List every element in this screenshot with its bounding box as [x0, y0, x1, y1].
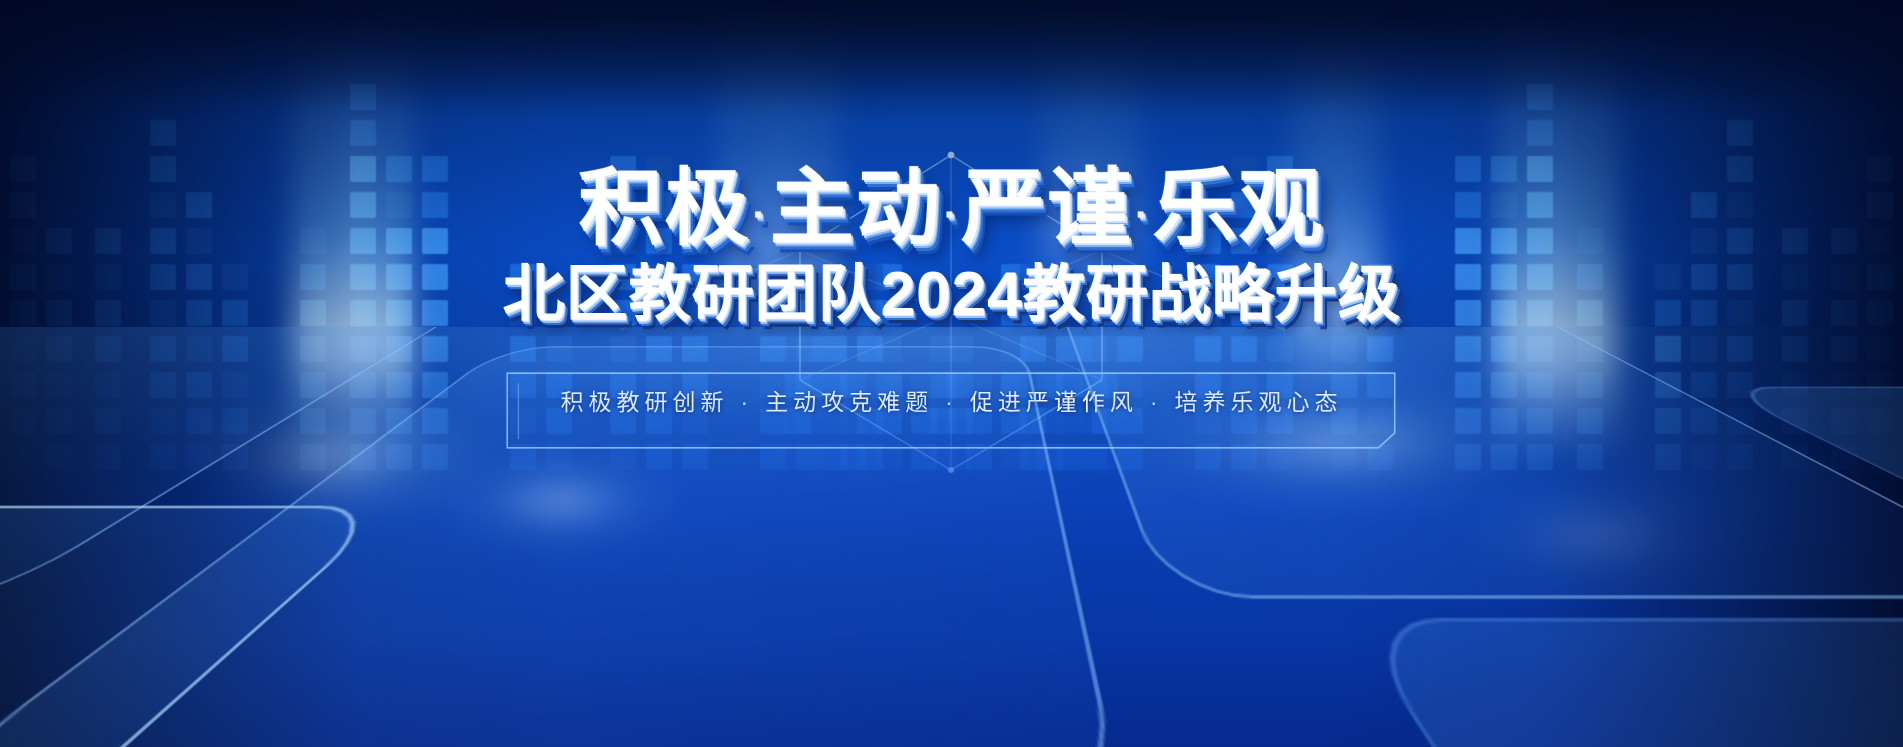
skyline-block [422, 300, 448, 326]
skyline-block [610, 264, 636, 290]
page-title: 积极·主动·严谨·乐观 [578, 166, 1324, 250]
skyline-block [1527, 264, 1553, 290]
title-separator-dot: · [752, 193, 767, 237]
skyline-block [1267, 300, 1293, 326]
skyline-block [186, 264, 212, 290]
skyline-block [1867, 300, 1893, 326]
skyline-block [1527, 156, 1553, 182]
skyline-block [1231, 228, 1257, 254]
skyline-block [1691, 264, 1717, 290]
skyline-block [386, 228, 412, 254]
skyline-block [386, 300, 412, 326]
title-part: 严谨 [961, 161, 1133, 255]
skyline-block [610, 192, 636, 218]
skyline-block [1655, 264, 1681, 290]
skyline-block [1195, 228, 1221, 254]
skyline-block [1491, 192, 1517, 218]
title-part: 主动 [770, 161, 942, 255]
skyline-block [1727, 120, 1753, 146]
skyline-block [10, 300, 36, 326]
light-beam-center [718, 0, 838, 340]
skyline-block [610, 156, 636, 182]
skyline-block [46, 264, 72, 290]
skyline-block [1527, 228, 1553, 254]
skyline-block [186, 228, 212, 254]
skyline-block [150, 300, 176, 326]
skyline-block [1491, 264, 1517, 290]
title-part: 积极 [578, 161, 750, 255]
skyline-block [1367, 264, 1393, 290]
skyline-block [300, 228, 326, 254]
skyline-block [1001, 264, 1027, 290]
skyline-block [150, 264, 176, 290]
skyline-block [1831, 228, 1857, 254]
skyline-block [1231, 156, 1257, 182]
page-subtitle: 北区教研团队2024教研战略升级 [503, 264, 1401, 326]
skyline-block [10, 264, 36, 290]
skyline-block [350, 264, 376, 290]
skyline-block [386, 192, 412, 218]
skyline-block [1231, 264, 1257, 290]
skyline-block [222, 300, 248, 326]
skyline-block [1831, 264, 1857, 290]
skyline-block [350, 156, 376, 182]
skyline-block [1691, 192, 1717, 218]
skyline-block [1231, 192, 1257, 218]
skyline-block [1455, 300, 1481, 326]
skyline-block [1092, 300, 1118, 326]
skyline-block [1267, 192, 1293, 218]
skyline-block [1267, 228, 1293, 254]
skyline-block [1527, 192, 1553, 218]
banner-root: 积极·主动·严谨·乐观 北区教研团队2024教研战略升级 积极教研创新·主动攻克… [0, 0, 1903, 747]
skyline-block [95, 264, 121, 290]
skyline-block [1867, 228, 1893, 254]
skyline-block [1117, 300, 1143, 326]
light-beam-center-right [1040, 0, 1140, 310]
skyline-block [350, 120, 376, 146]
skyline-block [422, 264, 448, 290]
skyline-block [300, 264, 326, 290]
skyline-block [1231, 300, 1257, 326]
ground-plane [0, 327, 1903, 747]
skyline-block [1867, 156, 1893, 182]
skyline-block [646, 264, 672, 290]
skyline-block [1455, 192, 1481, 218]
skyline-block [1727, 300, 1753, 326]
skyline-block [1267, 156, 1293, 182]
skyline-block [646, 192, 672, 218]
skyline-block [1020, 264, 1046, 290]
skyline-block [386, 156, 412, 182]
skyline-block [1691, 228, 1717, 254]
skyline-block [760, 300, 786, 326]
skyline-block [646, 228, 672, 254]
skyline-block [646, 156, 672, 182]
skyline-block [1577, 228, 1603, 254]
skyline-block [1001, 300, 1027, 326]
skyline-block [1491, 156, 1517, 182]
skyline-block [876, 300, 902, 326]
skyline-block [1195, 264, 1221, 290]
skyline-block [610, 300, 636, 326]
title-separator-dot: · [944, 193, 959, 237]
skyline-block [350, 84, 376, 110]
skyline-block [1491, 300, 1517, 326]
light-beam-core [776, 0, 781, 340]
skyline-block [386, 264, 412, 290]
skyline-block [1782, 300, 1808, 326]
title-part: 乐观 [1153, 161, 1325, 255]
skyline-block [1577, 300, 1603, 326]
skyline-block [1655, 300, 1681, 326]
skyline-block [1831, 300, 1857, 326]
skyline-block [1727, 228, 1753, 254]
skyline-block [1267, 264, 1293, 290]
skyline-block [1195, 300, 1221, 326]
skyline-block [1782, 264, 1808, 290]
skyline-block [422, 156, 448, 182]
light-beam-core [1088, 0, 1093, 310]
skyline-block [150, 156, 176, 182]
skyline-block [876, 264, 902, 290]
skyline-block [95, 300, 121, 326]
skyline-block [510, 264, 536, 290]
skyline-block [222, 264, 248, 290]
skyline-block [300, 300, 326, 326]
skyline-block [1527, 84, 1553, 110]
skyline-block [1867, 264, 1893, 290]
skyline-block [646, 300, 672, 326]
skyline-block [1867, 192, 1893, 218]
skyline-block [1491, 228, 1517, 254]
skyline-block [10, 156, 36, 182]
skyline-block [186, 192, 212, 218]
skyline-block [350, 192, 376, 218]
skyline-block [682, 264, 708, 290]
skyline-block [10, 228, 36, 254]
skyline-block [1577, 264, 1603, 290]
skyline-block [1020, 300, 1046, 326]
skyline-block [186, 300, 212, 326]
top-fade [0, 0, 1903, 120]
skyline-block [1727, 192, 1753, 218]
skyline-block [150, 120, 176, 146]
skyline-block [857, 300, 883, 326]
skyline-block [10, 192, 36, 218]
skyline-block [1527, 300, 1553, 326]
skyline-block [857, 264, 883, 290]
skyline-block [46, 300, 72, 326]
skyline-block [350, 228, 376, 254]
skyline-block [95, 228, 121, 254]
skyline-block [1455, 228, 1481, 254]
skyline-block [1367, 300, 1393, 326]
skyline-block [682, 228, 708, 254]
skyline-block [785, 300, 811, 326]
skyline-block [422, 228, 448, 254]
skyline-block [610, 228, 636, 254]
skyline-block [422, 192, 448, 218]
ground-plate [1056, 327, 1903, 599]
skyline-block [150, 228, 176, 254]
skyline-block [1455, 264, 1481, 290]
skyline-block [1527, 120, 1553, 146]
skyline-block [1691, 300, 1717, 326]
skyline-block [150, 192, 176, 218]
skyline-block [1727, 156, 1753, 182]
skyline-block [682, 300, 708, 326]
skyline-block [1727, 264, 1753, 290]
skyline-block [46, 228, 72, 254]
skyline-block [510, 300, 536, 326]
skyline-block [1455, 156, 1481, 182]
title-separator-dot: · [1135, 193, 1150, 237]
skyline-block [350, 300, 376, 326]
skyline-block [1782, 228, 1808, 254]
